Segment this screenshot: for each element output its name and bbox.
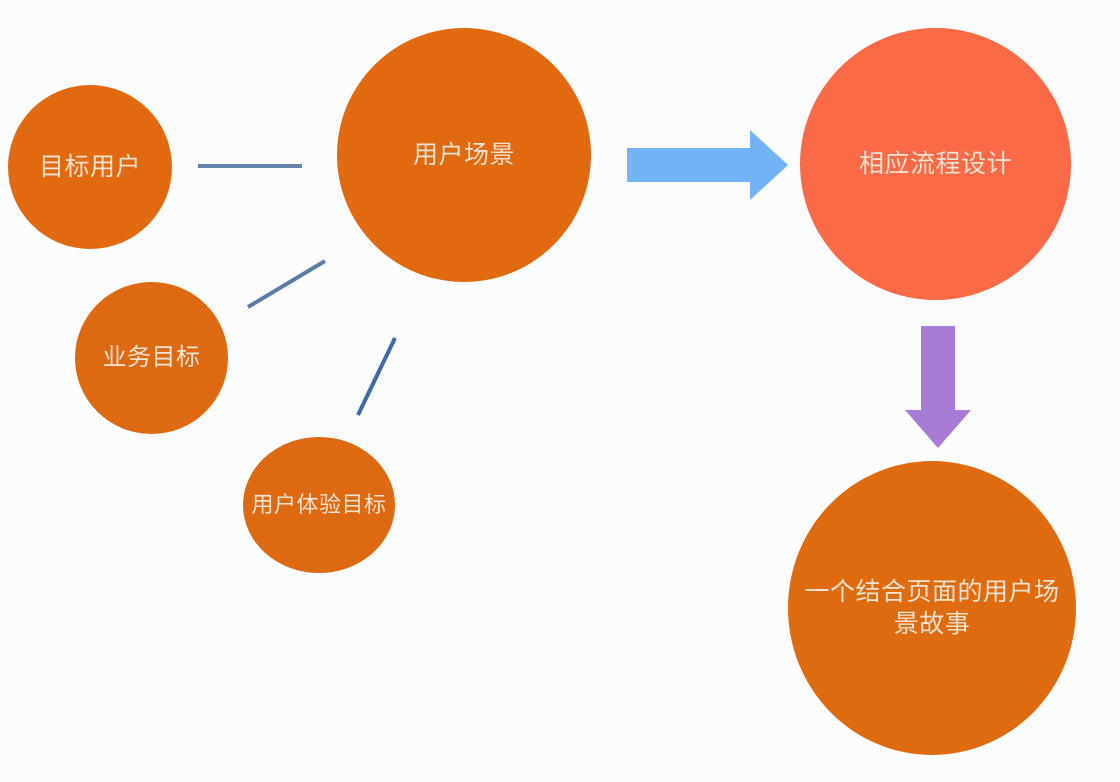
arrow-right-icon xyxy=(618,124,798,206)
node-user-scenario-label: 用户场景 xyxy=(405,139,523,171)
node-scenario-story[interactable]: 一个结合页面的用户场景故事 xyxy=(788,461,1076,755)
link-biz-goal-to-scenario xyxy=(248,261,325,307)
node-flow-design-label: 相应流程设计 xyxy=(851,148,1020,180)
node-user-scenario[interactable]: 用户场景 xyxy=(337,28,591,282)
node-business-goal[interactable]: 业务目标 xyxy=(75,282,228,434)
node-target-user[interactable]: 目标用户 xyxy=(8,85,172,249)
node-scenario-story-label: 一个结合页面的用户场景故事 xyxy=(788,576,1076,640)
node-ux-goal-label: 用户体验目标 xyxy=(243,491,394,519)
link-ux-goal-to-scenario xyxy=(358,338,395,415)
node-business-goal-label: 业务目标 xyxy=(95,343,209,374)
diagram-canvas: 目标用户 用户场景 业务目标 用户体验目标 相应流程设计 一个结合页面的用户场景… xyxy=(0,0,1120,782)
bottom-caption xyxy=(0,766,1120,782)
node-flow-design[interactable]: 相应流程设计 xyxy=(800,28,1071,300)
arrow-down-icon xyxy=(898,318,978,458)
node-target-user-label: 目标用户 xyxy=(31,151,149,183)
node-ux-goal[interactable]: 用户体验目标 xyxy=(243,437,395,573)
